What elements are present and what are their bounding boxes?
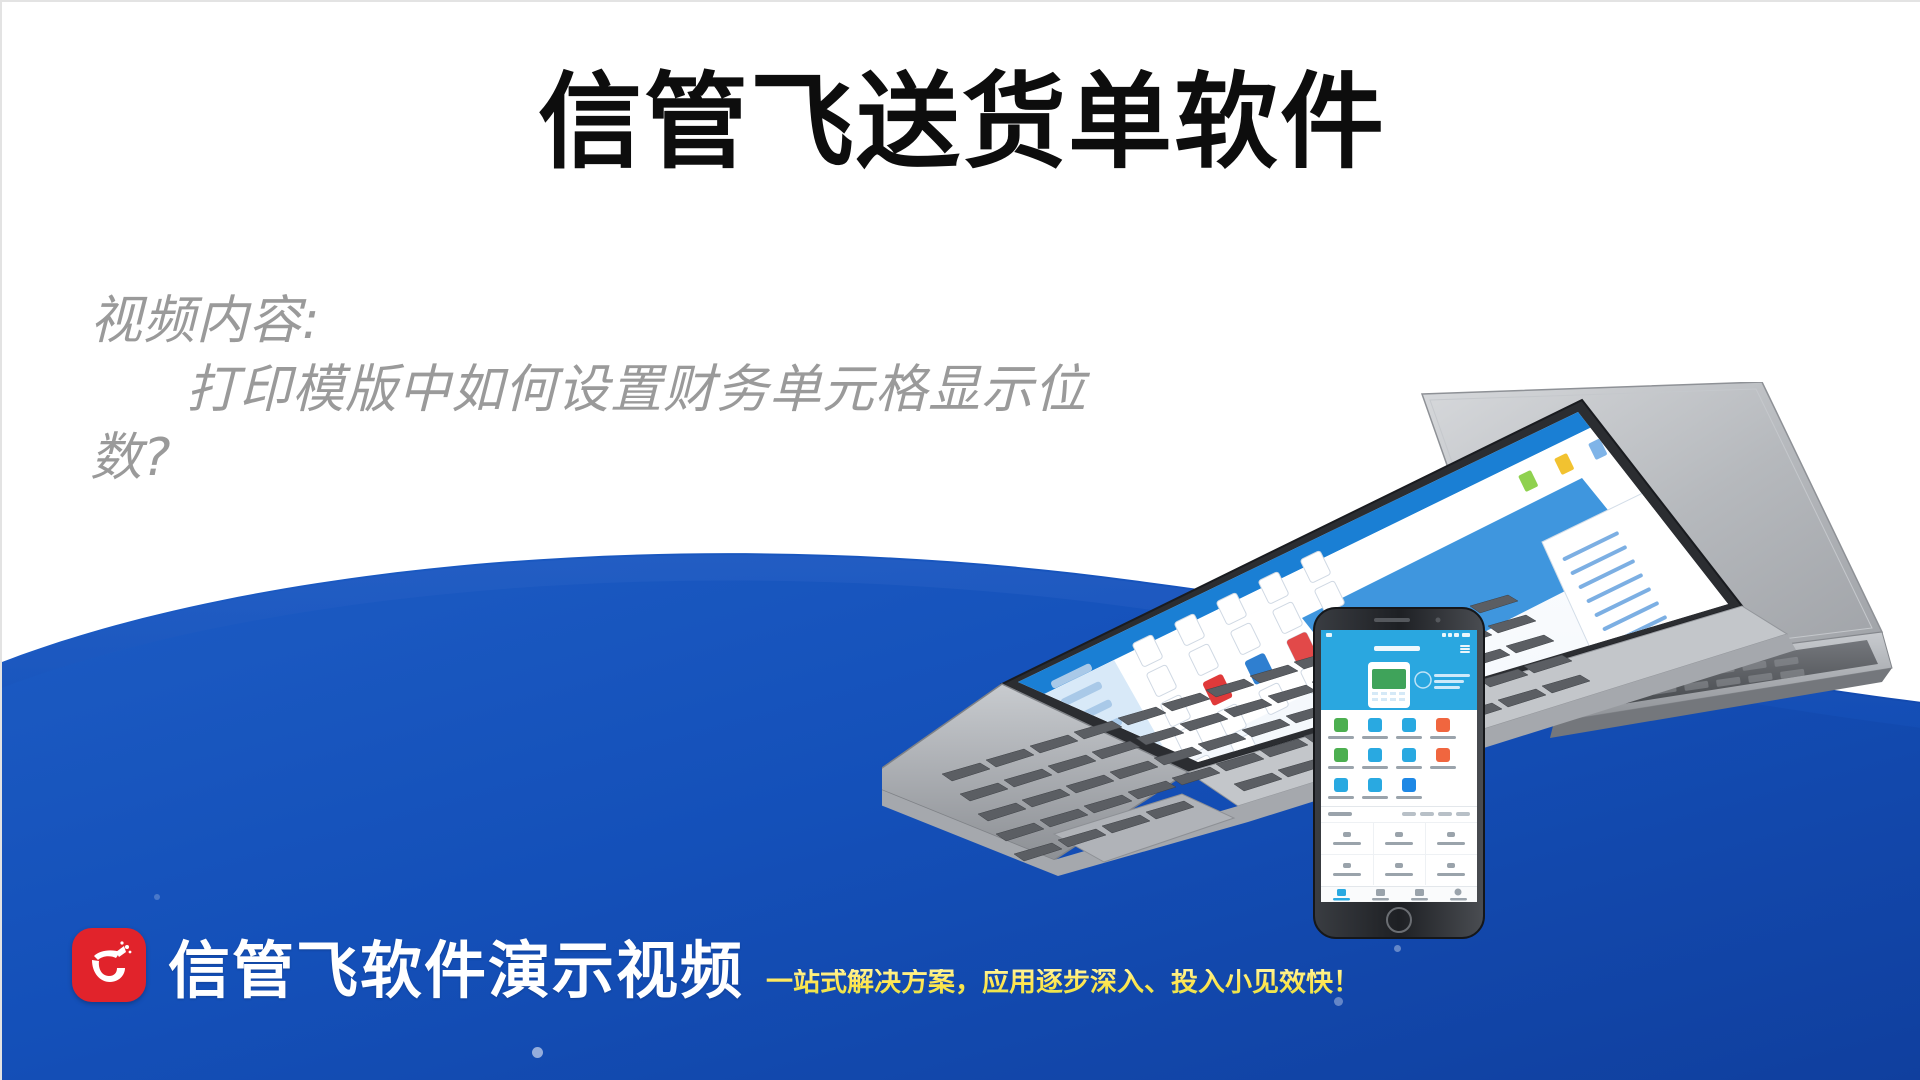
- footer-brand-bar: 信管飞软件演示视频 一站式解决方案，应用逐步深入、投入小见效快！: [72, 928, 1360, 1002]
- decorative-dot: [154, 894, 160, 900]
- video-content-line-2: 数?: [90, 428, 172, 488]
- brand-name: 信管飞软件演示视频: [168, 940, 744, 1002]
- xinguanfei-logo-icon: [72, 928, 146, 1002]
- decorative-dot: [532, 1047, 543, 1058]
- video-content-line-1: 打印模版中如何设置财务单元格显示位: [90, 356, 1160, 425]
- video-content-label: 视频内容:: [90, 287, 1160, 356]
- brand-tagline: 一站式解决方案，应用逐步深入、投入小见效快！: [766, 969, 1360, 1002]
- phone-app-title: [1374, 646, 1420, 651]
- page-title: 信管飞送货单软件: [2, 64, 1920, 180]
- decorative-dot: [1394, 945, 1401, 952]
- smartphone-front: [1314, 608, 1484, 938]
- video-content-block: 视频内容: 打印模版中如何设置财务单元格显示位 数?: [90, 287, 1160, 493]
- slide-root: 信管飞送货单软件 视频内容: 打印模版中如何设置财务单元格显示位 数?: [0, 0, 1920, 1080]
